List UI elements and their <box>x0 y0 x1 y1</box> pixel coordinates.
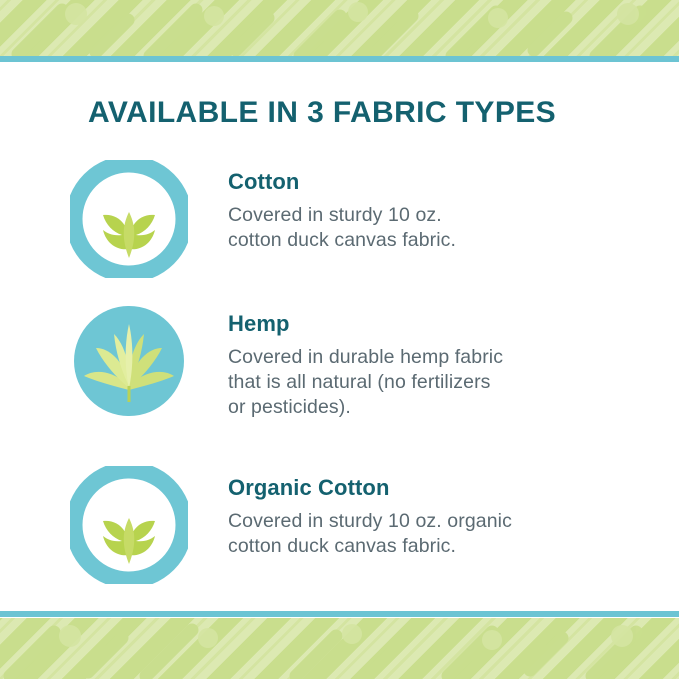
list-item-text: Hemp Covered in durable hemp fabric that… <box>228 302 503 420</box>
cotton-boll-icon <box>70 466 188 584</box>
page-title: AVAILABLE IN 3 FABRIC TYPES <box>88 96 556 130</box>
fabric-title: Organic Cotton <box>228 476 512 500</box>
bottom-band-teal-rule <box>0 611 679 617</box>
fabric-description: Covered in sturdy 10 oz. organic cotton … <box>228 509 512 559</box>
top-pattern-band <box>0 0 679 62</box>
fabric-title: Cotton <box>228 170 456 194</box>
list-item: Organic Cotton Covered in sturdy 10 oz. … <box>70 466 630 584</box>
list-item: Hemp Covered in durable hemp fabric that… <box>70 302 630 420</box>
bottom-band-fill <box>0 618 679 679</box>
infographic-page: AVAILABLE IN 3 FABRIC TYPES Cotton Cover… <box>0 0 679 679</box>
fabric-title: Hemp <box>228 312 503 336</box>
list-item-text: Organic Cotton Covered in sturdy 10 oz. … <box>228 466 512 559</box>
top-band-fill <box>0 0 679 57</box>
stripe-capsule-overlay <box>0 618 679 679</box>
stripe-capsule-overlay <box>0 0 679 57</box>
list-item: Cotton Covered in sturdy 10 oz. cotton d… <box>70 160 630 278</box>
hemp-leaf-icon <box>70 302 188 420</box>
top-band-teal-rule <box>0 56 679 62</box>
fabric-description: Covered in durable hemp fabric that is a… <box>228 345 503 420</box>
list-item-text: Cotton Covered in sturdy 10 oz. cotton d… <box>228 160 456 253</box>
cotton-boll-icon <box>70 160 188 278</box>
bottom-pattern-band <box>0 611 679 679</box>
fabric-description: Covered in sturdy 10 oz. cotton duck can… <box>228 203 456 253</box>
